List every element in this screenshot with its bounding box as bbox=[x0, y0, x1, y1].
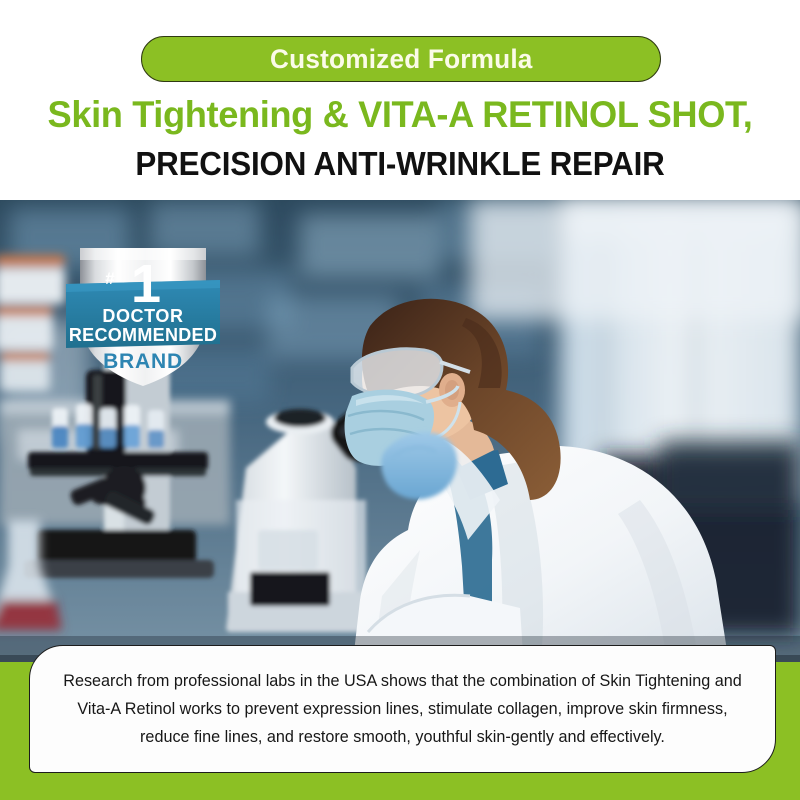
headline-secondary: PRECISION ANTI-WRINKLE REPAIR bbox=[20, 143, 780, 185]
description-card: Research from professional labs in the U… bbox=[29, 645, 776, 773]
doctor-recommended-badge: 1 # 1 # DOCTOR RECOMMENDED BRAND bbox=[60, 240, 226, 388]
svg-text:1: 1 bbox=[131, 254, 161, 314]
description-text: Research from professional labs in the U… bbox=[53, 667, 753, 751]
badge-line-recommended: RECOMMENDED bbox=[69, 325, 217, 345]
badge-line-doctor: DOCTOR bbox=[102, 306, 183, 326]
customized-formula-pill: Customized Formula bbox=[141, 36, 661, 82]
promo-banner: Customized Formula Skin Tightening & VIT… bbox=[0, 0, 800, 800]
badge-line-brand: BRAND bbox=[103, 350, 183, 373]
header-section: Customized Formula Skin Tightening & VIT… bbox=[0, 0, 800, 200]
headline-primary: Skin Tightening & VITA-A RETINOL SHOT, bbox=[8, 92, 792, 138]
customized-formula-label: Customized Formula bbox=[270, 44, 533, 75]
svg-text:#: # bbox=[105, 269, 115, 288]
